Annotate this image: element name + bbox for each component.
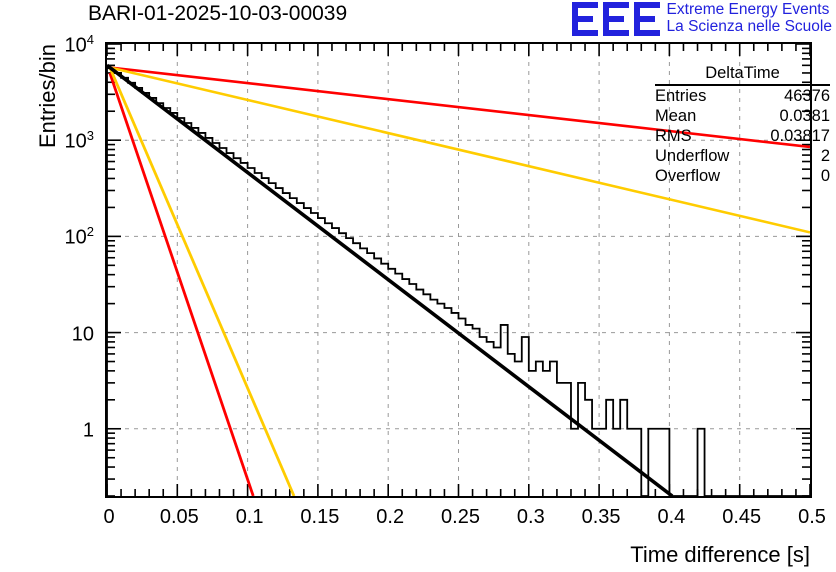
x-tick-label: 0.1 [236,506,264,529]
logo-line-1: Extreme Energy Events [667,2,832,19]
x-tick-label: 0.3 [517,506,545,529]
stats-row-key: RMS [655,127,692,146]
eee-logo: Extreme Energy Events La Scienza nelle S… [572,2,832,36]
x-tick-label: 0.45 [722,506,761,529]
stats-row: Mean0.0381 [655,106,830,126]
stats-row-key: Mean [655,107,696,126]
stats-row-key: Entries [655,87,706,106]
x-tick-label: 0.35 [582,506,621,529]
logo-line-2: La Scienza nelle Scuole [667,19,832,36]
stats-row: Underflow2 [655,146,830,166]
stats-row-value: 0 [821,167,830,186]
x-tick-label: 0 [103,506,114,529]
stats-row: RMS0.03817 [655,126,830,146]
fit-line-black [107,65,672,496]
fit-line-yellow-steep [110,67,294,496]
stats-row-key: Underflow [655,147,729,166]
plot-canvas: BARI-01-2025-10-03-00039 Extreme Energy … [0,0,836,572]
stats-row: Entries46376 [655,86,830,106]
x-axis-title: Time difference [s] [630,542,810,568]
stats-row-value: 0.0381 [780,107,830,126]
x-tick-label: 0.5 [798,506,826,529]
stats-row: Overflow0 [655,166,830,186]
stats-row-value: 46376 [784,87,830,106]
x-tick-label: 0.4 [657,506,685,529]
y-axis-title: Entries/bin [35,44,61,148]
y-tick-label: 102 [65,227,94,250]
y-tick-label: 103 [65,131,94,154]
stats-rows: Entries46376Mean0.0381RMS0.03817Underflo… [655,86,830,186]
y-tick-label: 1 [83,419,94,442]
stats-title: DeltaTime [655,64,830,86]
stats-row-value: 2 [821,147,830,166]
stats-row-key: Overflow [655,167,720,186]
eee-mark-icon [572,2,660,36]
page-title: BARI-01-2025-10-03-00039 [88,2,347,26]
x-tick-label: 0.25 [441,506,480,529]
stats-row-value: 0.03817 [770,127,830,146]
stats-box: DeltaTime Entries46376Mean0.0381RMS0.038… [655,64,830,186]
x-tick-label: 0.05 [160,506,199,529]
y-tick-label: 104 [65,35,94,58]
y-tick-label: 10 [72,323,94,346]
fit-line-red-steep [110,73,253,496]
x-tick-label: 0.15 [300,506,339,529]
x-tick-label: 0.2 [376,506,404,529]
